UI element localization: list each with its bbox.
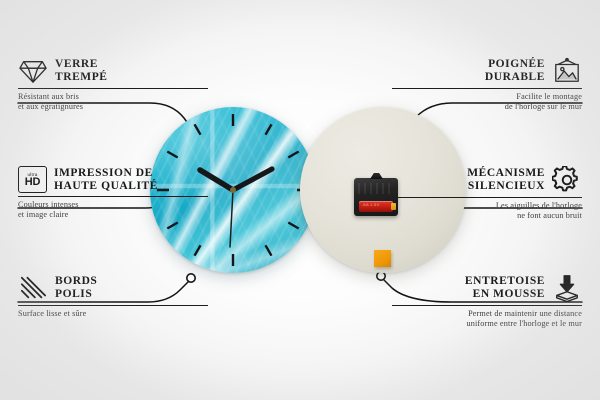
feature-verre-trempe: VERRE TREMPÉ Résistant aux bris et aux é… (18, 57, 208, 112)
feature-bords-polis: BORDS POLIS Surface lisse et sûre (18, 274, 208, 319)
battery: AA 1.5V (359, 201, 393, 212)
hands-center-cap (230, 187, 236, 193)
title-divider (392, 305, 582, 306)
feature-subtitle-line1: Couleurs intenses (18, 200, 208, 210)
feature-title: BORDS POLIS (55, 275, 97, 300)
infographic-canvas: AA 1.5V VERRE TREMPÉ Résistant aux bris (0, 0, 600, 400)
feature-title: IMPRESSION DE HAUTE QUALITÉ (54, 167, 158, 192)
gear-icon (552, 166, 582, 194)
feature-subtitle-line2: uniforme entre l'horloge et le mur (392, 319, 582, 329)
clock-hands (200, 169, 272, 247)
feature-header: ENTRETOISE EN MOUSSE (392, 274, 582, 302)
feature-header: MÉCANISME SILENCIEUX (392, 166, 582, 194)
polished-edge-icon (18, 274, 48, 302)
battery-label: AA 1.5V (363, 202, 380, 207)
diamond-icon (18, 57, 48, 85)
feature-subtitle-line2: de l'horloge sur le mur (392, 102, 582, 112)
feature-subtitle-line1: Surface lisse et sûre (18, 309, 208, 319)
feature-entretoise-en-mousse: ENTRETOISE EN MOUSSE Permet de maintenir… (392, 274, 582, 329)
foam-spacer (374, 250, 391, 267)
feature-title: ENTRETOISE EN MOUSSE (465, 275, 545, 300)
feature-poignee-durable: POIGNÉE DURABLE Facilite le montage de l… (392, 57, 582, 112)
wall-hanger-icon (552, 57, 582, 85)
feature-header: VERRE TREMPÉ (18, 57, 208, 85)
title-divider (18, 305, 208, 306)
feature-subtitle-line2: ne font aucun bruit (392, 211, 582, 221)
title-divider (18, 88, 208, 89)
foam-spacer-icon (552, 274, 582, 302)
feature-title: VERRE TREMPÉ (55, 58, 108, 83)
feature-header: POIGNÉE DURABLE (392, 57, 582, 85)
connector-dot-entretoise (377, 272, 385, 280)
feature-header: BORDS POLIS (18, 274, 208, 302)
feature-subtitle-line1: Résistant aux bris (18, 92, 208, 102)
feature-subtitle-line1: Les aiguilles de l'horloge (392, 201, 582, 211)
title-divider (392, 197, 582, 198)
feature-subtitle-line2: et image claire (18, 210, 208, 220)
second-hand (230, 190, 233, 247)
feature-title: MÉCANISME SILENCIEUX (467, 167, 545, 192)
feature-title: POIGNÉE DURABLE (485, 58, 545, 83)
ultra-hd-icon: ultra HD (18, 166, 47, 193)
title-divider (18, 196, 208, 197)
mechanism-housing-detail (358, 183, 394, 194)
minute-hand (233, 169, 272, 190)
feature-header: ultra HD IMPRESSION DE HAUTE QUALITÉ (18, 166, 208, 193)
feature-impression-haute-qualite: ultra HD IMPRESSION DE HAUTE QUALITÉ Cou… (18, 166, 208, 220)
feature-subtitle-line1: Permet de maintenir une distance (392, 309, 582, 319)
feature-subtitle-line1: Facilite le montage (392, 92, 582, 102)
feature-mecanisme-silencieux: MÉCANISME SILENCIEUX Les aiguilles de l'… (392, 166, 582, 221)
ultra-hd-icon-main-text: HD (25, 177, 41, 188)
feature-subtitle-line2: et aux égratignures (18, 102, 208, 112)
title-divider (392, 88, 582, 89)
